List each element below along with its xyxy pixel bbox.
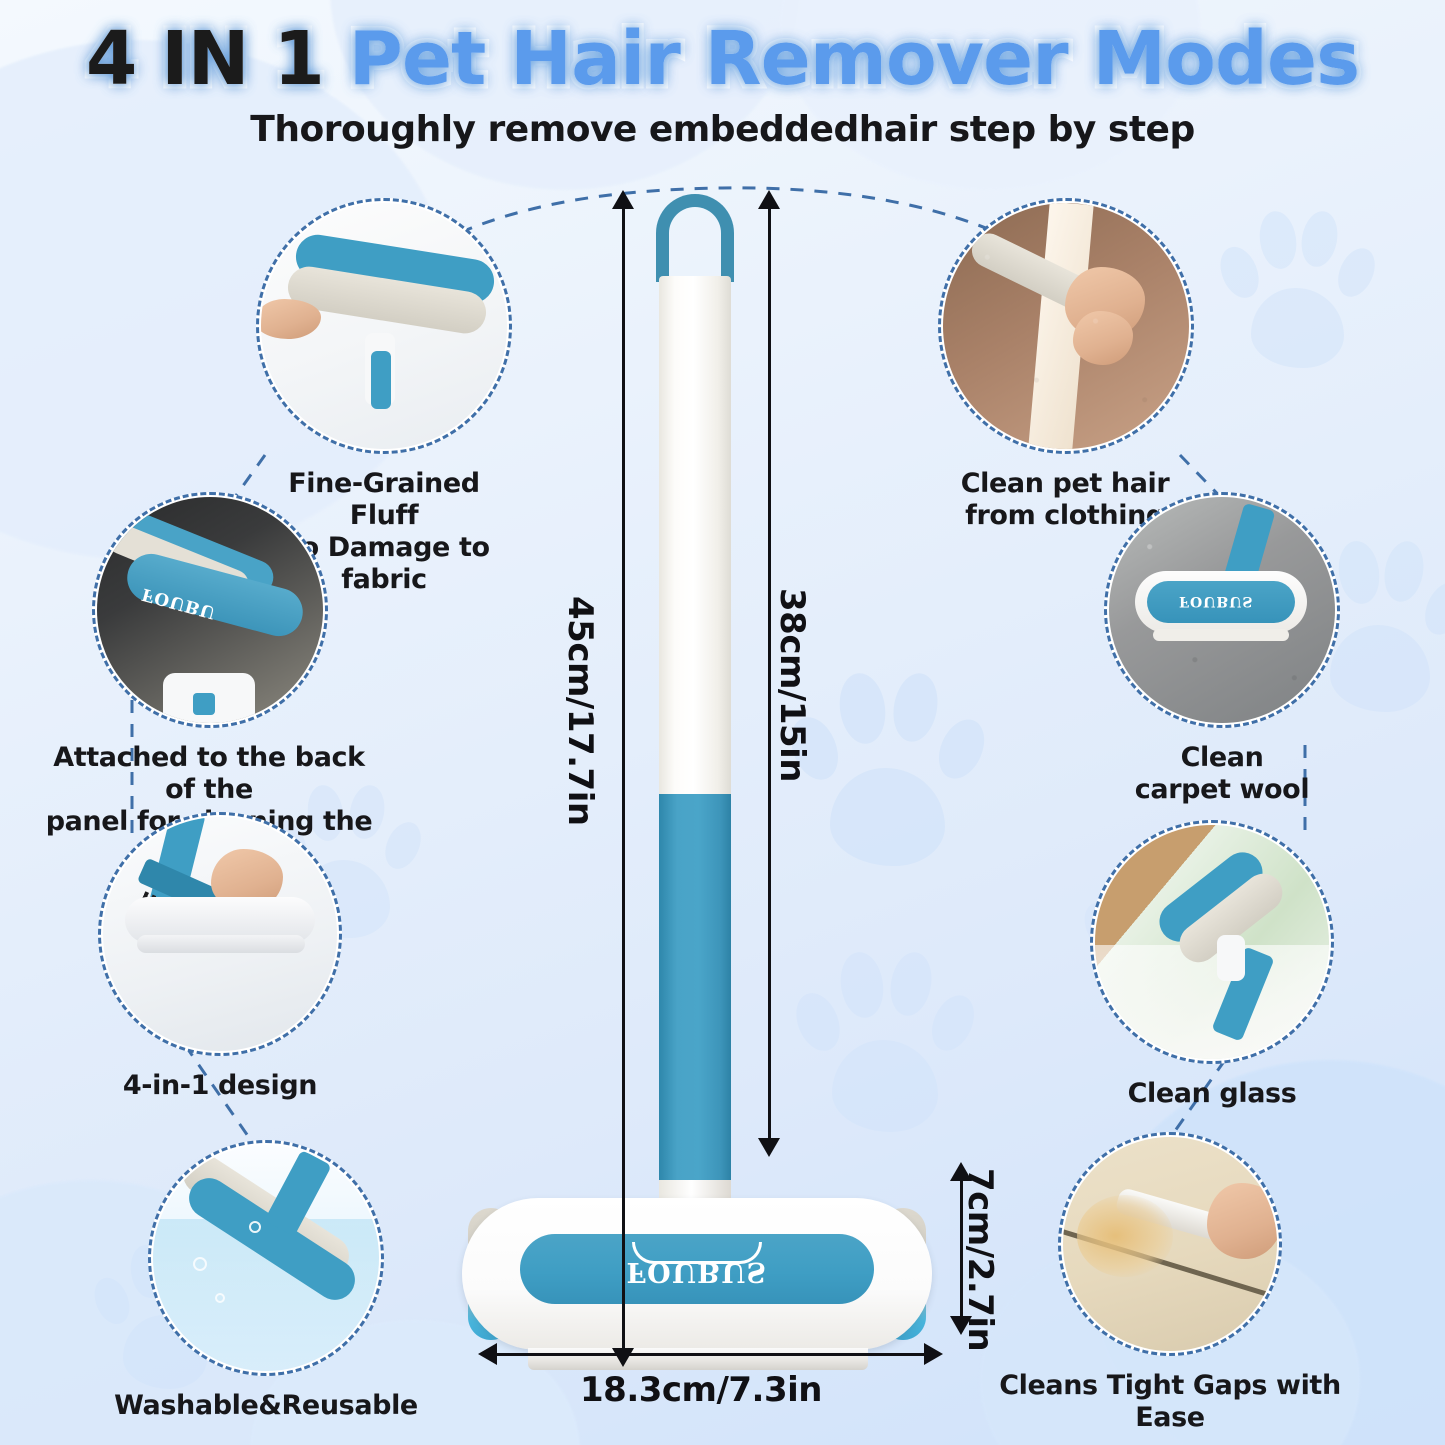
page-title: 4 IN 1 Pet Hair Remover Modes bbox=[0, 22, 1445, 96]
product-image: FOUBUS bbox=[440, 180, 1000, 1360]
dimension-label: 18.3cm/7.3in bbox=[580, 1370, 822, 1410]
header: 4 IN 1 Pet Hair Remover Modes Thoroughly… bbox=[0, 22, 1445, 150]
callout-four-in-one[interactable]: 4-in-1 design bbox=[98, 812, 342, 1102]
dimension-label: 7cm/2.7in bbox=[960, 1168, 1000, 1351]
dimension-label: 45cm/17.7in bbox=[560, 596, 600, 826]
callout-image bbox=[148, 1140, 384, 1376]
brush-head: FOUBUS bbox=[462, 1198, 932, 1350]
callout-clean-carpet[interactable]: FOUBUS Clean carpet wool bbox=[1104, 492, 1340, 806]
title-part-blue: Pet Hair Remover Modes bbox=[349, 16, 1360, 102]
callout-image: FOUBUS bbox=[1104, 492, 1340, 728]
hanging-loop bbox=[656, 194, 734, 282]
dimension-label: 38cm/15in bbox=[772, 588, 812, 782]
callout-clean-gaps[interactable]: Cleans Tight Gaps with Ease bbox=[1058, 1132, 1282, 1434]
handle-upper-shaft bbox=[659, 276, 731, 796]
callout-image bbox=[938, 198, 1194, 454]
brand-logo-text: FOUBUS bbox=[520, 1256, 874, 1287]
callout-caption: Clean carpet wool bbox=[1087, 742, 1357, 806]
callout-clean-clothing[interactable]: Clean pet hair from clothing bbox=[938, 198, 1194, 532]
callout-image bbox=[1090, 820, 1334, 1064]
callout-caption: Clean glass bbox=[1090, 1078, 1334, 1110]
handle-grip bbox=[659, 794, 731, 1190]
callout-image bbox=[1058, 1132, 1282, 1356]
callout-image bbox=[256, 198, 512, 454]
callout-washable[interactable]: Washable&Reusable bbox=[148, 1140, 384, 1422]
title-part-dark: 4 IN 1 bbox=[86, 16, 324, 102]
callout-caption: 4-in-1 design bbox=[98, 1070, 342, 1102]
callout-caption: Washable&Reusable bbox=[106, 1390, 426, 1422]
callout-caption: Cleans Tight Gaps with Ease bbox=[970, 1370, 1370, 1434]
brand-plate: FOUBUS bbox=[520, 1234, 874, 1304]
callout-clean-glass[interactable]: Clean glass bbox=[1090, 820, 1334, 1110]
infographic-canvas: 4 IN 1 Pet Hair Remover Modes Thoroughly… bbox=[0, 0, 1445, 1445]
brush-fur-right bbox=[880, 1208, 926, 1340]
callout-image: FOUBU bbox=[92, 492, 328, 728]
squeegee-blade bbox=[528, 1348, 868, 1370]
brush-fur-left bbox=[468, 1208, 514, 1340]
page-subtitle: Thoroughly remove embeddedhair step by s… bbox=[0, 109, 1445, 150]
callout-image bbox=[98, 812, 342, 1056]
paw-print-icon bbox=[1215, 200, 1380, 375]
